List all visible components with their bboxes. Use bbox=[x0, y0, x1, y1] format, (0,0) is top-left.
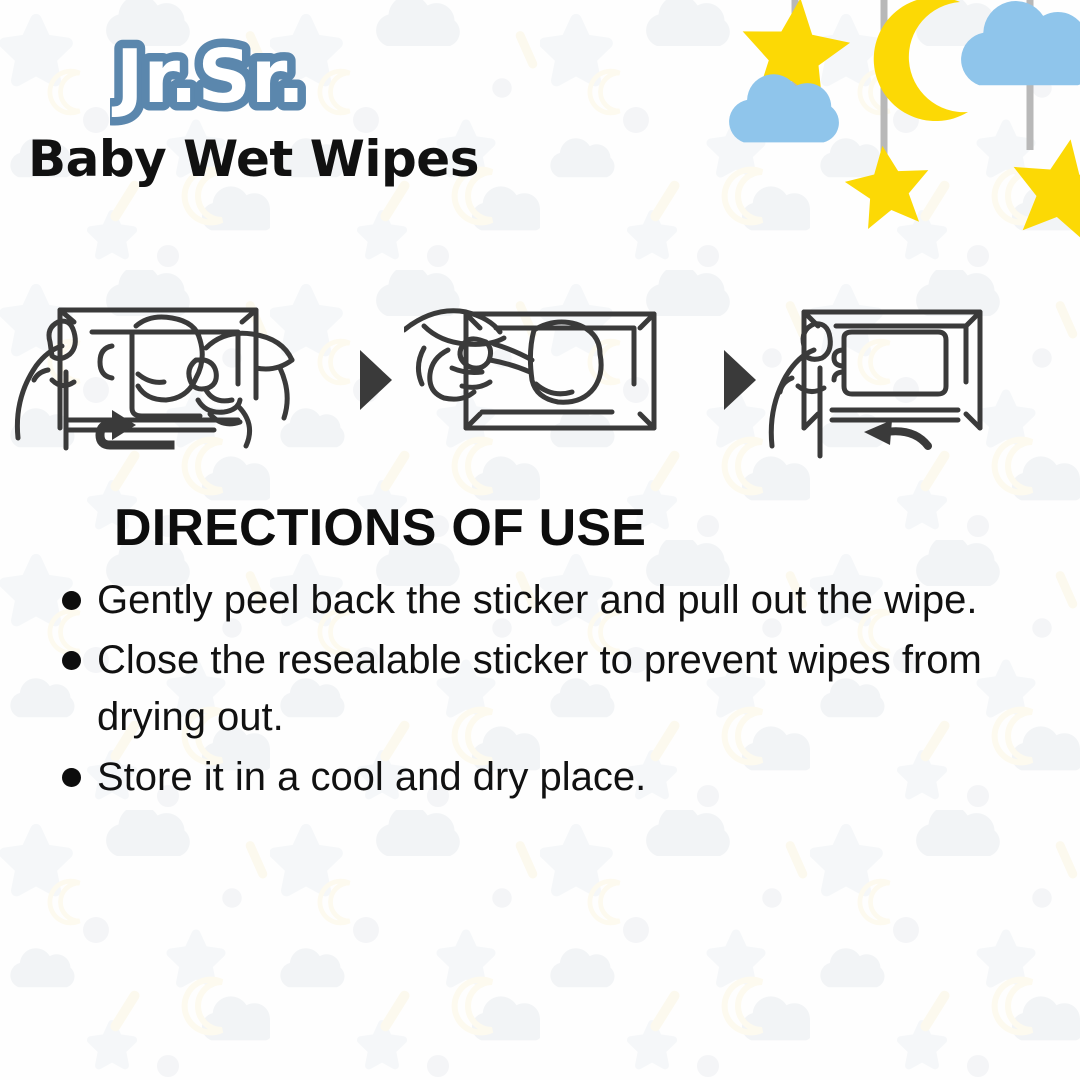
usage-steps-strip bbox=[0, 288, 1080, 478]
step-arrow-1-icon bbox=[340, 288, 404, 478]
direction-item: Store it in a cool and dry place. bbox=[62, 749, 1022, 806]
hanging-star-3 bbox=[1003, 130, 1080, 240]
hanging-moon bbox=[874, 0, 968, 121]
brand-block: Jr.Sr. Jr.Sr. Baby Wet Wipes bbox=[0, 24, 470, 188]
direction-text: Close the resealable sticker to prevent … bbox=[97, 632, 1022, 746]
step-illustration-reseal-sticker bbox=[768, 288, 1048, 478]
brand-logo: Jr.Sr. Jr.Sr. bbox=[0, 24, 470, 134]
product-info-panel: Jr.Sr. Jr.Sr. Baby Wet Wipes bbox=[0, 0, 1080, 1080]
direction-item: Close the resealable sticker to prevent … bbox=[62, 632, 1022, 746]
direction-text: Gently peel back the sticker and pull ou… bbox=[97, 572, 1022, 629]
brand-subtitle: Baby Wet Wipes bbox=[0, 130, 470, 188]
hanging-cloud-2 bbox=[961, 1, 1080, 85]
hanging-cloud-1 bbox=[729, 74, 839, 142]
directions-list: Gently peel back the sticker and pull ou… bbox=[62, 572, 1022, 806]
directions-title: DIRECTIONS OF USE bbox=[114, 498, 1022, 558]
step-arrow-2-icon bbox=[704, 288, 768, 478]
hanging-star-2 bbox=[841, 140, 936, 231]
jr-sr-logo-icon: Jr.Sr. Jr.Sr. bbox=[110, 24, 370, 128]
logo-fill-text: Jr.Sr. bbox=[111, 34, 305, 120]
step-illustration-peel-back-sticker bbox=[0, 288, 340, 478]
direction-text: Store it in a cool and dry place. bbox=[97, 749, 1022, 806]
directions-section: DIRECTIONS OF USE Gently peel back the s… bbox=[62, 498, 1022, 809]
step-illustration-pull-out-wipe bbox=[404, 288, 704, 478]
bullet-icon bbox=[62, 768, 81, 787]
step3-arrow-head bbox=[864, 420, 892, 445]
bullet-icon bbox=[62, 591, 81, 610]
bullet-icon bbox=[62, 651, 81, 670]
direction-item: Gently peel back the sticker and pull ou… bbox=[62, 572, 1022, 629]
